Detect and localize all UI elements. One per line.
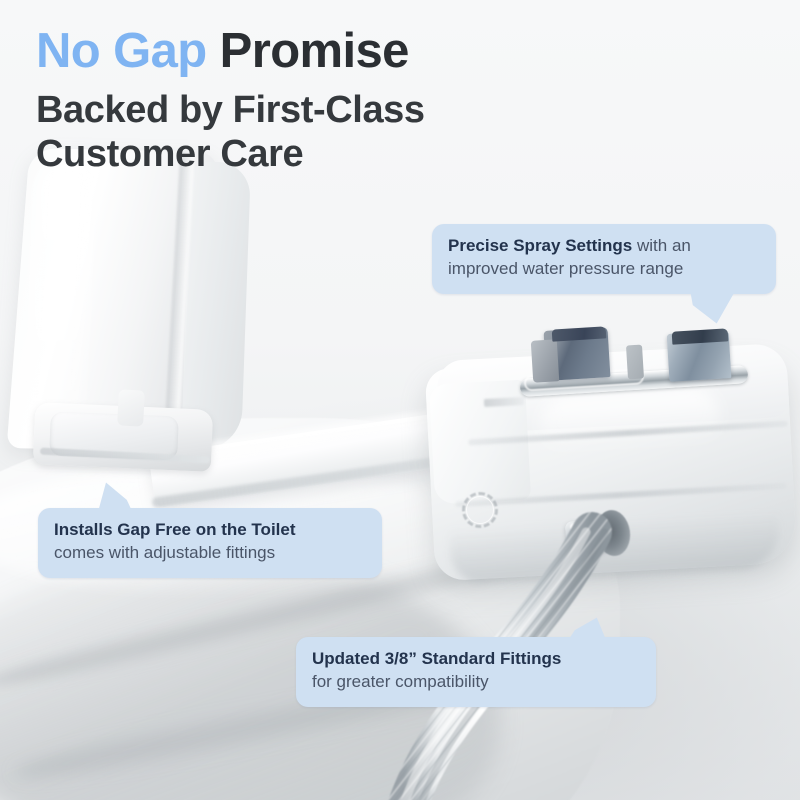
callout-line-2: comes with adjustable fittings bbox=[54, 542, 366, 565]
callout-updated-standard-fittings: Updated 3/8” Standard Fittings for great… bbox=[296, 637, 656, 707]
callout-line-1: Updated 3/8” Standard Fittings bbox=[312, 648, 640, 671]
callout-bold-text: Updated 3/8” Standard Fittings bbox=[312, 649, 561, 668]
callout-line-1: Installs Gap Free on the Toilet bbox=[54, 519, 366, 542]
seat-hinge-post bbox=[117, 389, 145, 426]
page-title: No Gap Promise bbox=[36, 26, 596, 77]
toilet-lid-back-panel bbox=[181, 162, 251, 450]
page-subtitle-line-1: Backed by First-Class bbox=[36, 89, 596, 132]
spray-pressure-knob-side bbox=[531, 339, 560, 383]
callout-bold-text: Installs Gap Free on the Toilet bbox=[54, 520, 296, 539]
product-marketing-image: No Gap Promise Backed by First-Class Cus… bbox=[0, 0, 800, 800]
callout-line-2: for greater compatibility bbox=[312, 671, 640, 694]
page-title-rest: Promise bbox=[207, 24, 409, 78]
embossed-logo-inner-icon bbox=[466, 496, 494, 524]
page-subtitle: Backed by First-Class Customer Care bbox=[36, 89, 596, 176]
knob-divider bbox=[626, 345, 644, 380]
callout-precise-spray-settings: Precise Spray Settings with an improved … bbox=[432, 224, 776, 294]
page-title-accent: No Gap bbox=[36, 24, 207, 78]
page-subtitle-line-2: Customer Care bbox=[36, 133, 596, 176]
callout-installs-gap-free: Installs Gap Free on the Toilet comes wi… bbox=[38, 508, 382, 578]
callout-regular-text: with an bbox=[632, 236, 691, 255]
headline-block: No Gap Promise Backed by First-Class Cus… bbox=[36, 26, 596, 176]
callout-line-2: improved water pressure range bbox=[448, 258, 760, 281]
callout-bold-text: Precise Spray Settings bbox=[448, 236, 632, 255]
callout-line-1: Precise Spray Settings with an bbox=[448, 235, 760, 258]
